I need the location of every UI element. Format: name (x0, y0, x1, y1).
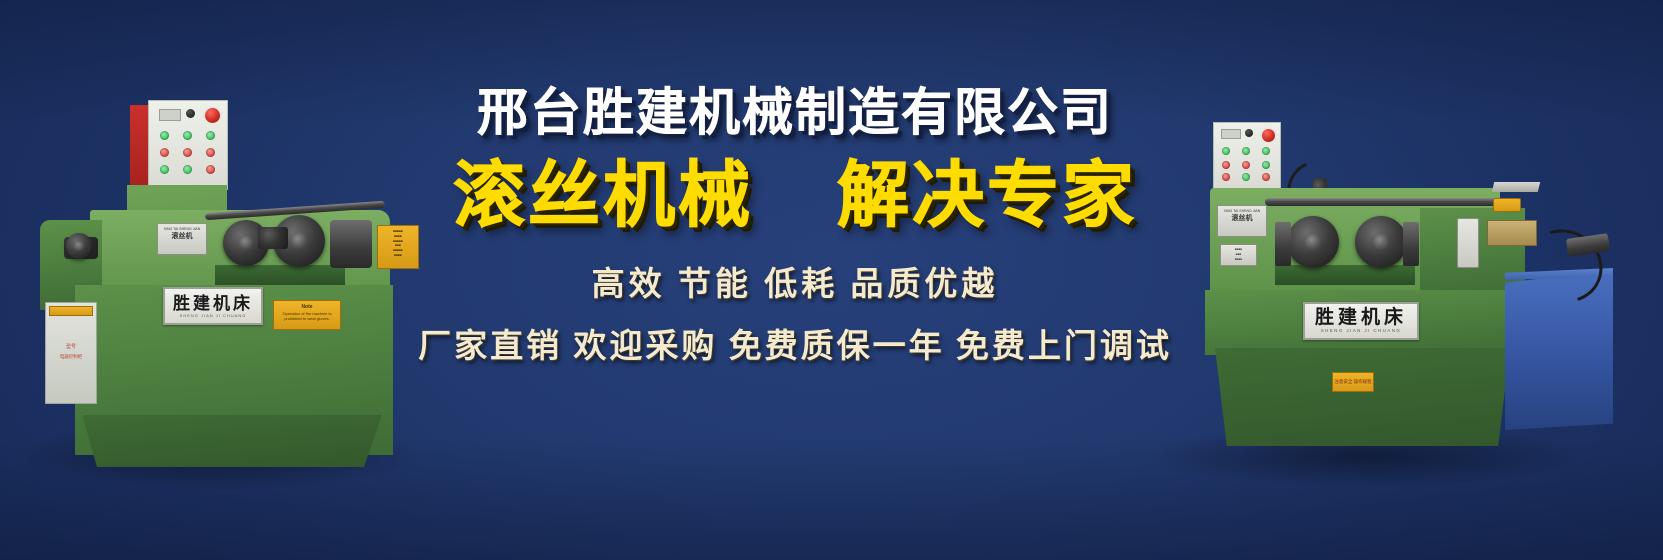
right-indicator-r4[interactable] (1262, 173, 1270, 181)
left-panel-meter (159, 109, 181, 121)
left-spec-plate-model: 滚丝机 (158, 232, 206, 241)
right-roller-die-2 (1355, 216, 1407, 268)
left-brand-nameplate: 胜建机床 SHENG JIAN JI CHUANG (163, 287, 263, 325)
right-indicator-r2[interactable] (1242, 161, 1250, 169)
right-indicator-g5[interactable] (1242, 173, 1250, 181)
left-rolling-machine: XING TAI SHENG JIAN 滚丝机 ■■■■■■■■■■■■■■■■… (30, 95, 420, 455)
right-control-panel (1213, 122, 1281, 190)
headline-row: 滚丝机械 解决专家 (380, 160, 1210, 233)
right-brand-nameplate-cn: 胜建机床 (1315, 308, 1407, 327)
right-param-plate: ■■■■■■■■■■■ (1220, 244, 1257, 266)
right-machine-base (1215, 348, 1510, 446)
left-machine-base (82, 415, 382, 467)
right-feeder-table (1492, 182, 1540, 192)
left-die-base (215, 265, 345, 285)
right-panel-knob[interactable] (1245, 129, 1253, 137)
left-indicator-r2[interactable] (183, 148, 192, 157)
right-slide-unit (1457, 218, 1479, 268)
left-panel-knob[interactable] (186, 109, 195, 118)
right-panel-meter (1221, 129, 1241, 139)
left-spindle-wheel (66, 233, 92, 259)
right-caution-label: 注意安全 操作规程 (1332, 372, 1374, 392)
left-emergency-stop-button[interactable] (203, 106, 222, 125)
right-emergency-stop-button[interactable] (1260, 127, 1277, 144)
left-control-panel (148, 100, 228, 190)
right-indicator-r1[interactable] (1222, 161, 1230, 169)
left-spec-plate-company: XING TAI SHENG JIAN (158, 227, 206, 232)
left-die-bridge (258, 227, 288, 249)
left-indicator-g5[interactable] (183, 165, 192, 174)
right-indicator-g3[interactable] (1262, 147, 1270, 155)
right-indicator-g4[interactable] (1262, 161, 1270, 169)
right-terminal-block (1493, 198, 1521, 212)
right-indicator-g2[interactable] (1242, 147, 1250, 155)
right-caution-label-text: 注意安全 操作规程 (1334, 379, 1371, 385)
company-name: 邢台胜建机械制造有限公司 (380, 86, 1210, 140)
left-warning-label: Note Operation of the machine is prohibi… (273, 300, 341, 330)
right-indicator-g1[interactable] (1222, 147, 1230, 155)
left-indicator-g4[interactable] (160, 165, 169, 174)
right-brass-plate (1487, 220, 1537, 246)
left-spec-plate: XING TAI SHENG JIAN 滚丝机 (157, 223, 207, 255)
left-motor-housing (330, 220, 372, 268)
right-die-base (1275, 265, 1415, 285)
left-warning-label-text: Operation of the machine is prohibited t… (274, 310, 340, 323)
right-indicator-r3[interactable] (1222, 173, 1230, 181)
left-indicator-g3[interactable] (206, 131, 215, 140)
right-brand-nameplate: 胜建机床 SHENG JIAN JI CHUANG (1303, 302, 1419, 340)
left-indicator-g2[interactable] (183, 131, 192, 140)
left-brand-nameplate-pinyin: SHENG JIAN JI CHUANG (180, 314, 247, 318)
right-spec-plate-model: 滚丝机 (1218, 214, 1266, 223)
right-die-holder-right (1403, 222, 1419, 266)
headline-left: 滚丝机械 (453, 160, 753, 233)
left-indicator-r1[interactable] (160, 148, 169, 157)
banner-text-block: 邢台胜建机械制造有限公司 滚丝机械 解决专家 高效 节能 低耗 品质优越 厂家直… (380, 86, 1210, 367)
left-electrical-cabinet: 型号 电器控制柜 (45, 302, 97, 404)
headline-right: 解决专家 (837, 160, 1137, 233)
right-brand-nameplate-pinyin: SHENG JIAN JI CHUANG (1321, 329, 1402, 334)
right-spec-plate-company: XING TAI SHENG JIAN (1218, 209, 1266, 214)
right-roller-die-1 (1287, 216, 1339, 268)
right-die-holder-left (1275, 222, 1291, 266)
subtitle-line-1: 高效 节能 低耗 品质优越 (380, 257, 1210, 305)
left-indicator-g1[interactable] (160, 131, 169, 140)
right-spec-plate: XING TAI SHENG JIAN 滚丝机 (1217, 205, 1267, 237)
promo-banner: XING TAI SHENG JIAN 滚丝机 ■■■■■■■■■■■■■■■■… (0, 0, 1663, 560)
right-upper-shaft (1265, 198, 1515, 206)
left-cabinet-top-strip (49, 306, 93, 316)
left-cabinet-label: 型号 电器控制柜 (52, 343, 90, 361)
right-rolling-machine: XING TAI SHENG JIAN 滚丝机 ■■■■■■■■■■■ (1175, 120, 1645, 450)
left-brand-nameplate-cn: 胜建机床 (173, 295, 253, 312)
left-indicator-r3[interactable] (206, 148, 215, 157)
left-indicator-r4[interactable] (206, 165, 215, 174)
subtitle-line-2: 厂家直销 欢迎采购 免费质保一年 免费上门调试 (380, 319, 1210, 367)
